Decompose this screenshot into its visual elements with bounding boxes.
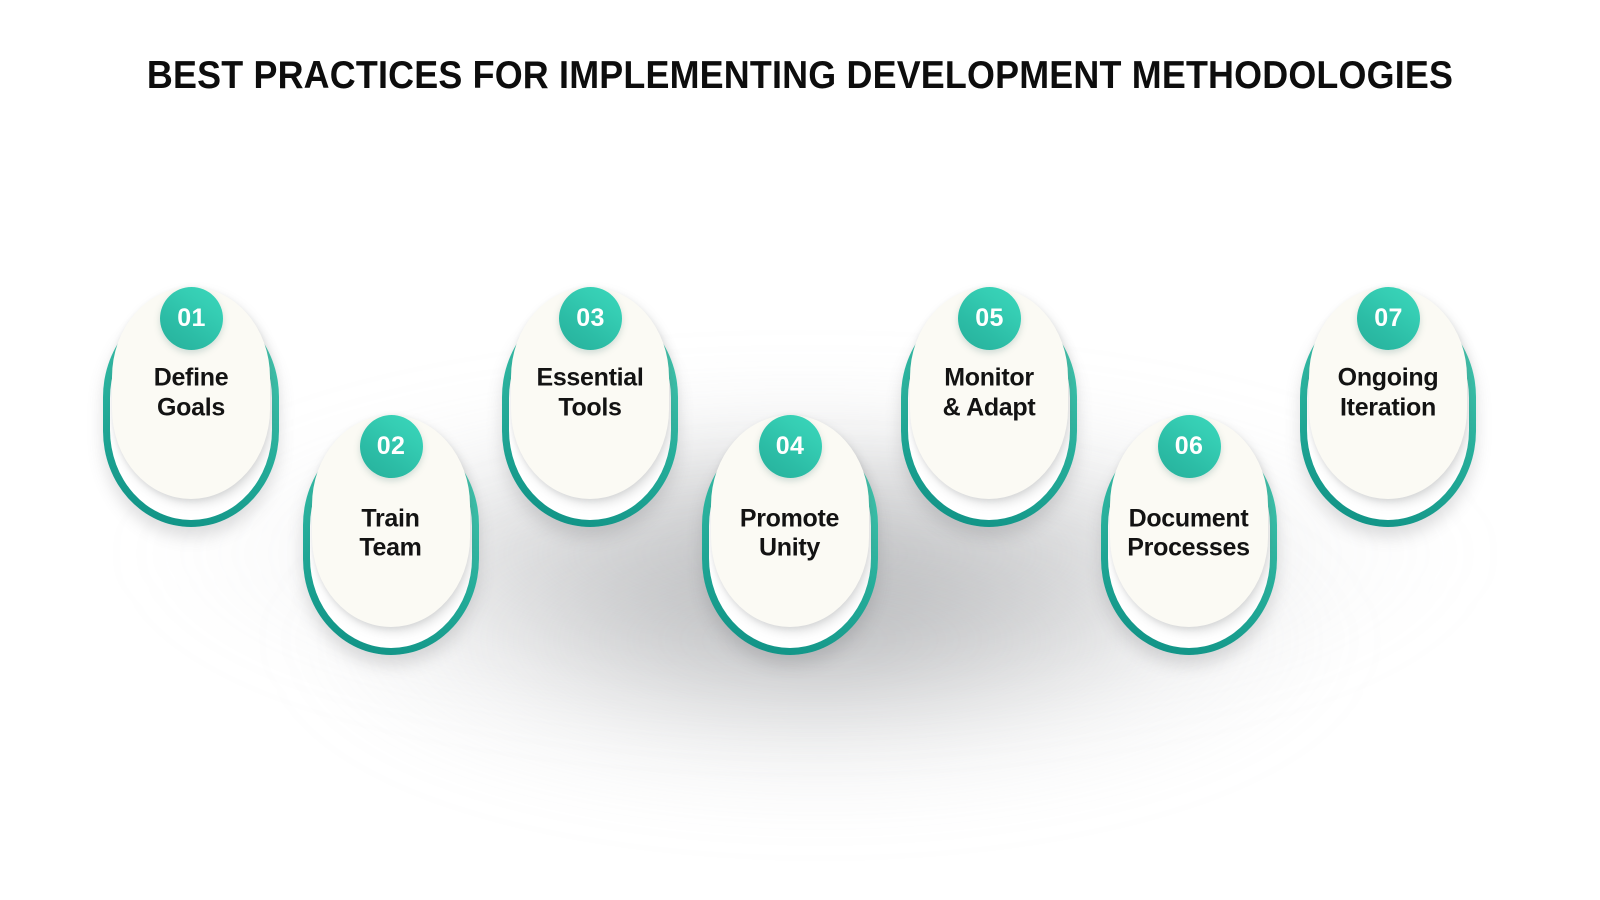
step-card-label-07: Ongoing Iteration — [1293, 364, 1483, 423]
step-number-badge-03[interactable]: 03 — [559, 287, 622, 350]
infographic-canvas: BEST PRACTICES FOR IMPLEMENTING DEVELOPM… — [0, 0, 1600, 900]
step-number-text-02: 02 — [377, 434, 405, 459]
step-card-07[interactable]: Ongoing Iteration07 — [1300, 287, 1476, 519]
step-number-text-04: 04 — [776, 434, 804, 459]
step-number-badge-01[interactable]: 01 — [160, 287, 223, 350]
step-card-label-05: Monitor & Adapt — [894, 364, 1084, 423]
page-title: BEST PRACTICES FOR IMPLEMENTING DEVELOPM… — [64, 54, 1536, 98]
step-number-badge-02[interactable]: 02 — [360, 415, 423, 478]
step-number-text-07: 07 — [1374, 306, 1402, 331]
step-card-04[interactable]: Promote Unity04 — [702, 415, 878, 647]
step-card-label-06: Document Processes — [1094, 504, 1284, 563]
step-card-05[interactable]: Monitor & Adapt05 — [901, 287, 1077, 519]
step-number-badge-04[interactable]: 04 — [759, 415, 822, 478]
step-number-text-03: 03 — [576, 306, 604, 331]
step-number-text-06: 06 — [1175, 434, 1203, 459]
step-card-label-02: Train Team — [296, 504, 486, 563]
step-card-01[interactable]: Define Goals01 — [103, 287, 279, 519]
step-number-badge-06[interactable]: 06 — [1158, 415, 1221, 478]
step-number-badge-07[interactable]: 07 — [1357, 287, 1420, 350]
step-number-text-05: 05 — [975, 306, 1003, 331]
step-card-06[interactable]: Document Processes06 — [1101, 415, 1277, 647]
step-card-label-03: Essential Tools — [495, 364, 685, 423]
step-card-03[interactable]: Essential Tools03 — [502, 287, 678, 519]
step-card-label-04: Promote Unity — [695, 504, 885, 563]
step-number-text-01: 01 — [177, 306, 205, 331]
step-card-02[interactable]: Train Team02 — [303, 415, 479, 647]
step-number-badge-05[interactable]: 05 — [958, 287, 1021, 350]
step-card-label-01: Define Goals — [96, 364, 286, 423]
